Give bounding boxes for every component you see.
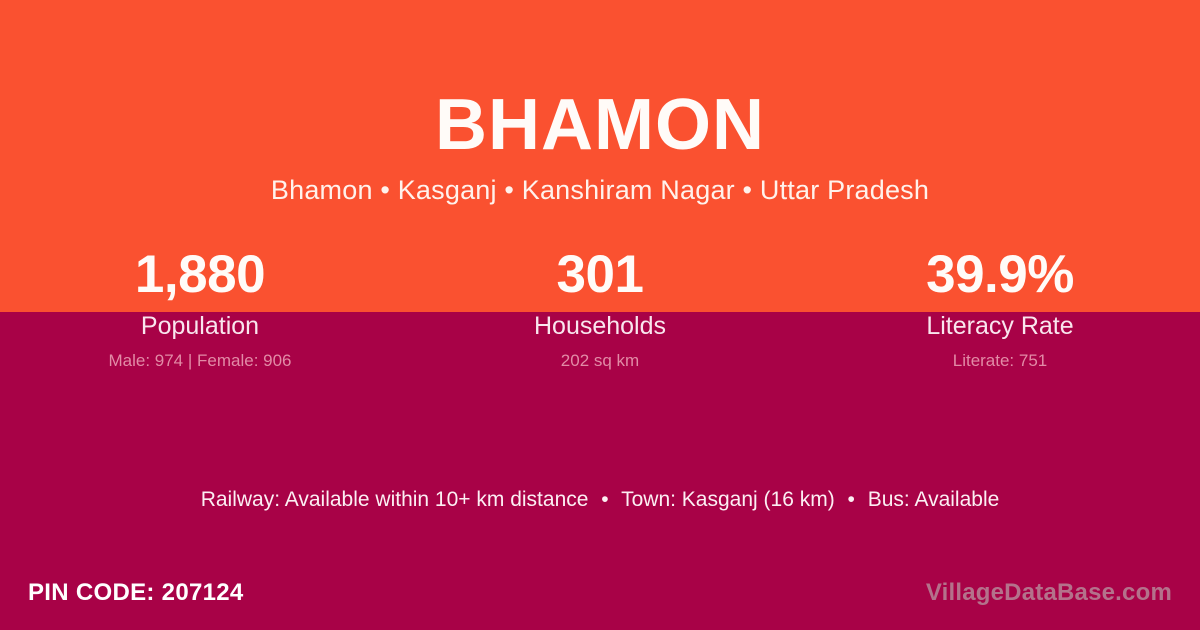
footer: PIN CODE: 207124 VillageDataBase.com (0, 576, 1200, 610)
stat-population: 1,880 Population Male: 974 | Female: 906 (0, 243, 400, 371)
stat-sub-literacy-rate: Literate: 751 (800, 350, 1200, 371)
stat-label-population: Population (0, 311, 400, 341)
facility-separator-icon: • (841, 487, 862, 513)
facility-separator-icon: • (594, 487, 615, 513)
stat-value-literacy-rate: 39.9% (800, 243, 1200, 307)
header: BHAMON Bhamon • Kasganj • Kanshiram Naga… (0, 82, 1200, 207)
stat-label-literacy-rate: Literacy Rate (800, 311, 1200, 341)
stats-row: 1,880 Population Male: 974 | Female: 906… (0, 243, 1200, 371)
stat-households: 301 Households 202 sq km (400, 243, 800, 371)
page-title: BHAMON (0, 82, 1200, 168)
village-info-card: BHAMON Bhamon • Kasganj • Kanshiram Naga… (0, 0, 1200, 630)
stat-sub-households: 202 sq km (400, 350, 800, 371)
facility-town: Town: Kasganj (16 km) (621, 488, 835, 511)
stat-sub-population: Male: 974 | Female: 906 (0, 350, 400, 371)
card-content: BHAMON Bhamon • Kasganj • Kanshiram Naga… (0, 0, 1200, 630)
stat-label-households: Households (400, 311, 800, 341)
facility-railway: Railway: Available within 10+ km distanc… (201, 488, 589, 511)
stat-value-households: 301 (400, 243, 800, 307)
pin-code: PIN CODE: 207124 (28, 578, 244, 608)
stat-value-population: 1,880 (0, 243, 400, 307)
site-brand: VillageDataBase.com (926, 578, 1172, 608)
breadcrumb: Bhamon • Kasganj • Kanshiram Nagar • Utt… (0, 173, 1200, 207)
facility-bus: Bus: Available (868, 488, 1000, 511)
facilities-line: Railway: Available within 10+ km distanc… (0, 487, 1200, 513)
stat-literacy-rate: 39.9% Literacy Rate Literate: 751 (800, 243, 1200, 371)
